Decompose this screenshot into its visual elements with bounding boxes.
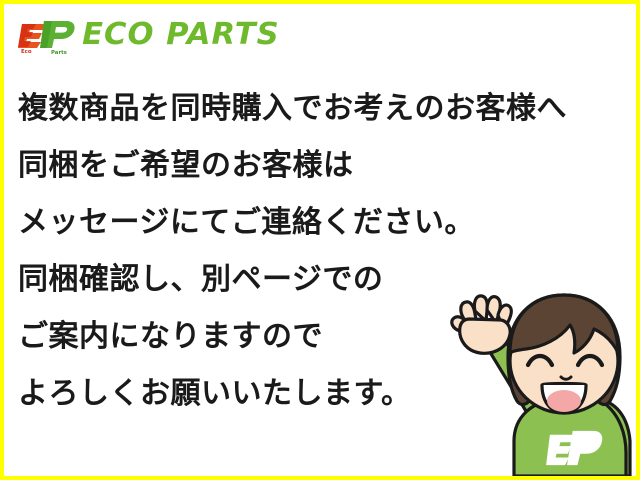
- promo-banner: Eco Parts ECO PARTS 複数商品を同時購入でお考えのお客様へ 同…: [0, 0, 640, 480]
- waving-girl-illustration: [444, 291, 634, 476]
- brand-header: Eco Parts ECO PARTS: [4, 4, 636, 66]
- brand-wordmark: ECO PARTS: [82, 20, 280, 50]
- mascot-hand: [452, 296, 511, 353]
- logo-sub-eco: Eco: [21, 49, 32, 55]
- mascot-tongue: [547, 390, 581, 412]
- eco-parts-logo-icon: Eco Parts: [18, 15, 80, 55]
- message-line: メッセージにてご連絡ください。: [18, 194, 618, 251]
- message-line: 複数商品を同時購入でお考えのお客様へ: [18, 80, 618, 137]
- logo-sub-parts: Parts: [51, 50, 67, 55]
- message-line: 同梱をご希望のお客様は: [18, 137, 618, 194]
